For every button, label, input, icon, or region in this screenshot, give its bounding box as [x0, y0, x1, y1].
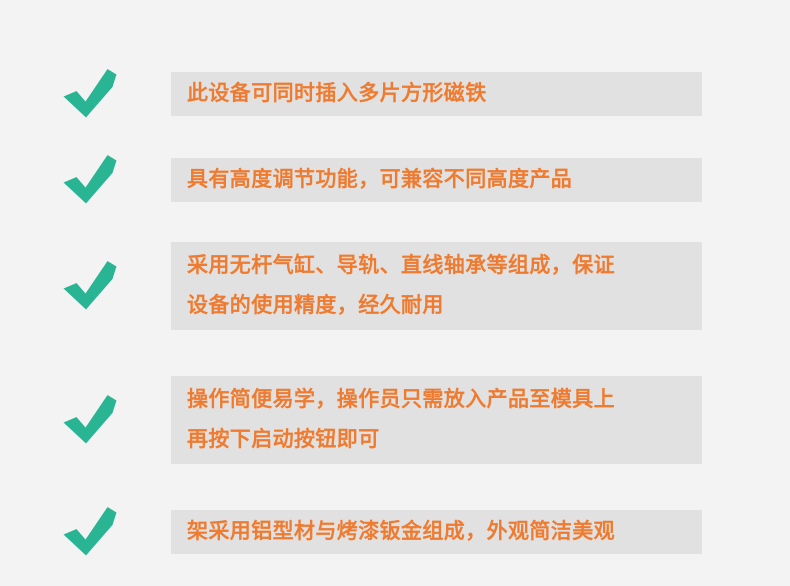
- check-cell: [0, 152, 171, 208]
- feature-text: 架采用铝型材与烤漆钣金组成，外观简洁美观: [187, 512, 615, 552]
- check-mark-icon: [60, 152, 120, 208]
- feature-text-panel: 架采用铝型材与烤漆钣金组成，外观简洁美观: [171, 510, 702, 554]
- check-mark-icon: [60, 504, 120, 560]
- feature-list: 此设备可同时插入多片方形磁铁 具有高度调节功能，可兼容不同高度产品 采用无杆气缸…: [0, 0, 790, 586]
- feature-text: 具有高度调节功能，可兼容不同高度产品: [187, 160, 572, 200]
- feature-text: 采用无杆气缸、导轨、直线轴承等组成，保证 设备的使用精度，经久耐用: [187, 246, 615, 326]
- check-cell: [0, 258, 171, 314]
- check-mark-icon: [60, 392, 120, 448]
- check-mark-icon: [60, 66, 120, 122]
- feature-text-panel: 具有高度调节功能，可兼容不同高度产品: [171, 158, 702, 202]
- feature-text-panel: 此设备可同时插入多片方形磁铁: [171, 72, 702, 116]
- check-cell: [0, 504, 171, 560]
- check-mark-icon: [60, 258, 120, 314]
- feature-item: 具有高度调节功能，可兼容不同高度产品: [0, 148, 790, 212]
- check-cell: [0, 392, 171, 448]
- feature-text-panel: 采用无杆气缸、导轨、直线轴承等组成，保证 设备的使用精度，经久耐用: [171, 242, 702, 330]
- feature-text: 此设备可同时插入多片方形磁铁: [187, 74, 487, 114]
- feature-item: 采用无杆气缸、导轨、直线轴承等组成，保证 设备的使用精度，经久耐用: [0, 242, 790, 330]
- feature-item: 架采用铝型材与烤漆钣金组成，外观简洁美观: [0, 500, 790, 564]
- feature-item: 此设备可同时插入多片方形磁铁: [0, 62, 790, 126]
- feature-item: 操作简便易学，操作员只需放入产品至模具上 再按下启动按钮即可: [0, 376, 790, 464]
- feature-text-panel: 操作简便易学，操作员只需放入产品至模具上 再按下启动按钮即可: [171, 376, 702, 464]
- feature-text: 操作简便易学，操作员只需放入产品至模具上 再按下启动按钮即可: [187, 380, 615, 460]
- check-cell: [0, 66, 171, 122]
